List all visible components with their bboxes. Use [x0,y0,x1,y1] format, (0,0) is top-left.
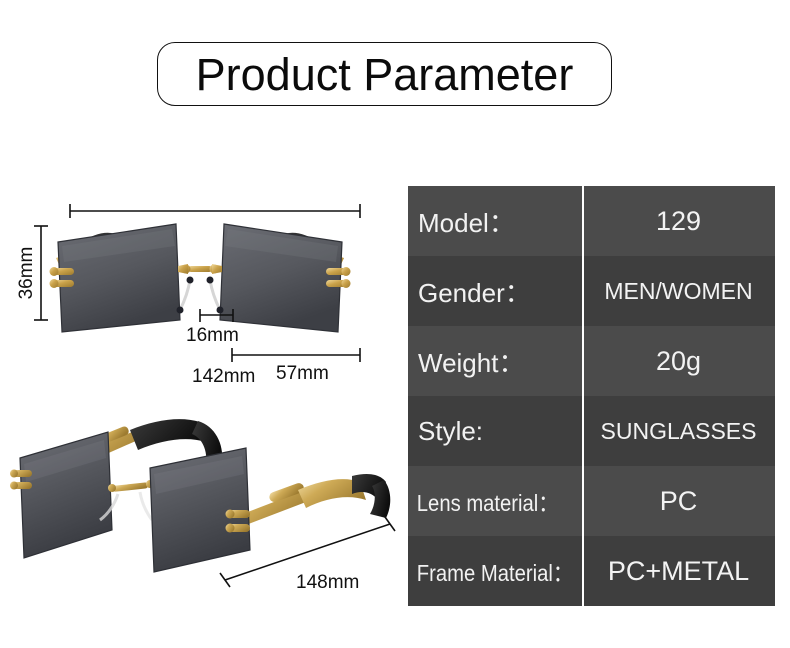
spec-label-frame-material: Frame Material： [408,536,561,606]
spec-label-lens-material: Lens material： [408,466,561,536]
table-row: Lens material： PC [408,466,775,536]
spec-value-gender: MEN/WOMEN [582,256,775,326]
dimension-label-16mm: 16mm [186,325,239,347]
dimension-label-142mm: 142mm [192,366,255,388]
spec-label-weight: Weight： [408,326,582,396]
dimension-label-148mm: 148mm [296,572,359,594]
spec-value-lens-material: PC [582,466,775,536]
table-row: Model： 129 [408,186,775,256]
spec-value-model: 129 [582,186,775,256]
spec-label-model: Model： [408,186,582,256]
spec-value-style: SUNGLASSES [582,396,775,466]
spec-table: Model： 129 Gender： MEN/WOMEN Weight： 20g… [408,186,775,606]
table-row: Frame Material： PC+METAL [408,536,775,606]
sunglasses-front-view-diagram: 142mm 36mm 16mm 57mm [0,180,400,390]
dimension-line-57mm [232,348,360,362]
spec-label-gender: Gender： [408,256,582,326]
spec-value-weight: 20g [582,326,775,396]
sunglasses-angled-view-diagram: 148mm [0,410,400,610]
page-title: Product Parameter [196,52,574,97]
table-row: Gender： MEN/WOMEN [408,256,775,326]
dimension-label-57mm: 57mm [276,363,329,385]
dimension-label-36mm: 36mm [16,243,38,303]
product-parameter-page: Product Parameter [0,0,790,648]
spec-value-frame-material: PC+METAL [582,536,775,606]
table-row: Style: SUNGLASSES [408,396,775,466]
dimension-line-142mm [70,204,360,218]
page-title-box: Product Parameter [157,42,612,106]
table-row: Weight： 20g [408,326,775,396]
spec-label-style: Style: [408,396,582,466]
